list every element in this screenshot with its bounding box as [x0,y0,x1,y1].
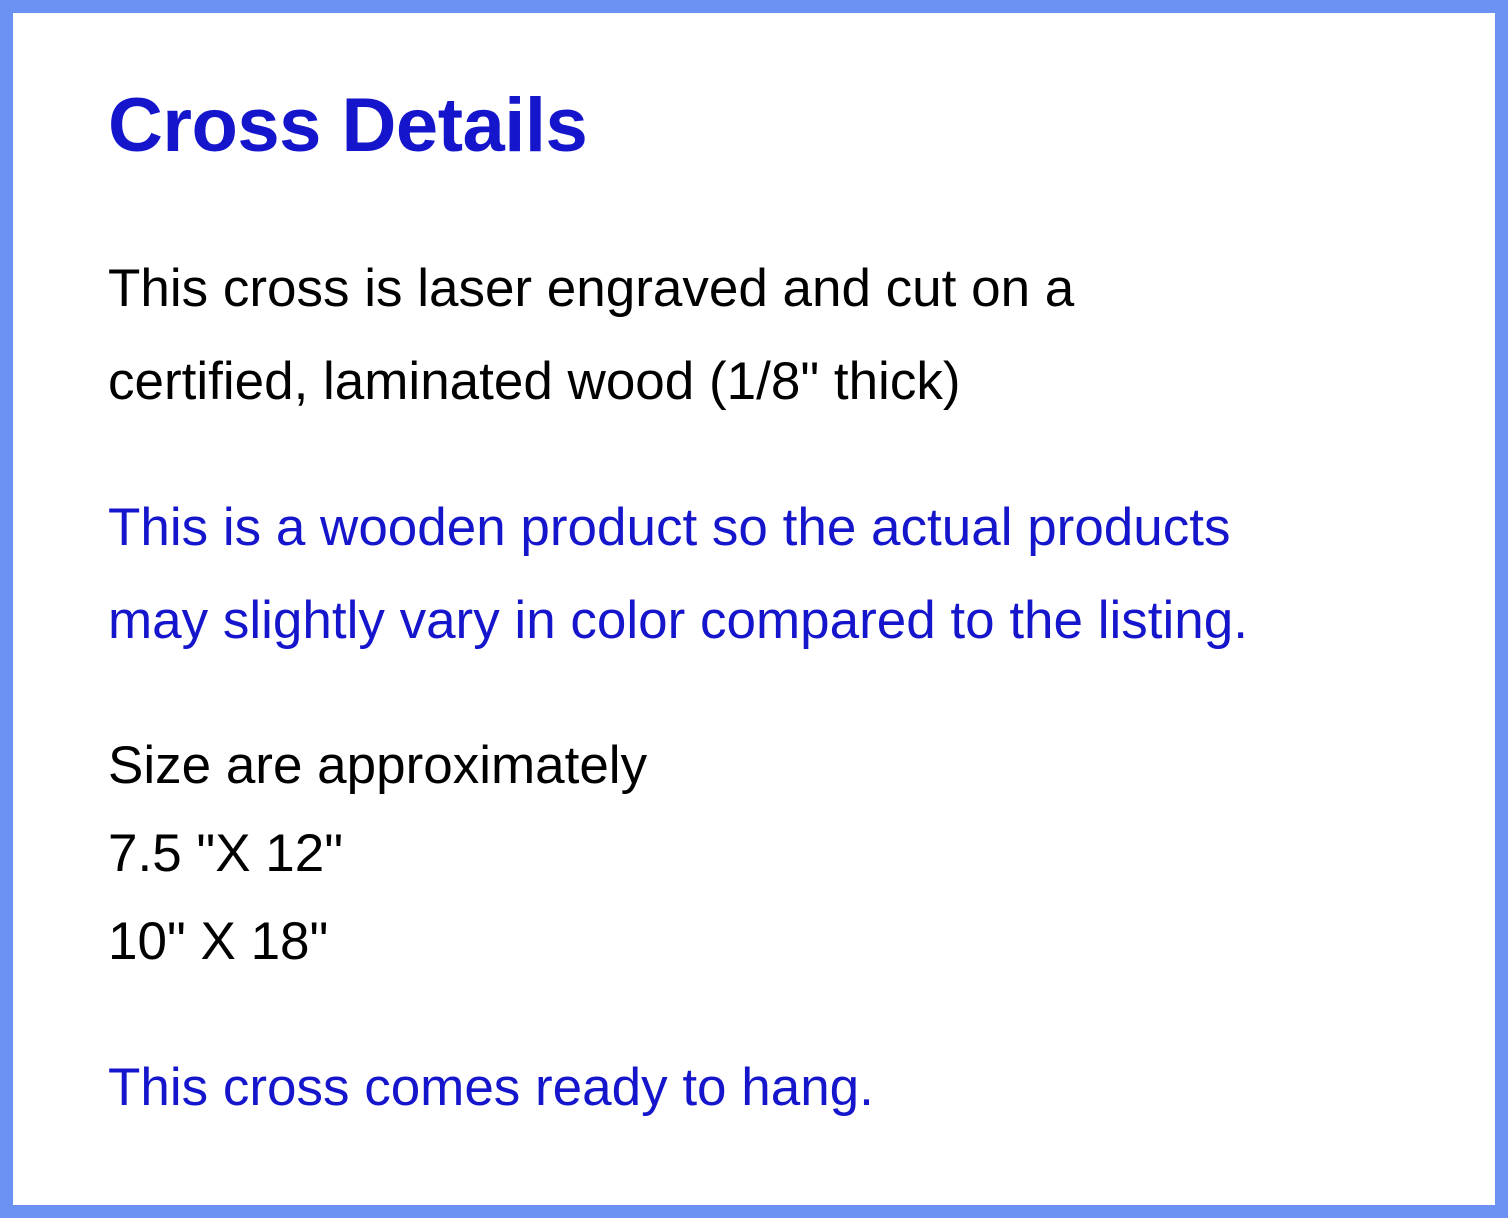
size-heading-line: Size are approximately [108,722,1478,810]
paragraph-color-variance-line-1: This is a wooden product so the actual p… [108,481,1478,574]
cross-details-card: Cross Details This cross is laser engrav… [0,0,1508,1218]
paragraph-color-variance-line-2: may slightly vary in color compared to t… [108,574,1478,667]
content-area: Cross Details This cross is laser engrav… [108,88,1478,1134]
page-title: Cross Details [108,88,1478,164]
paragraph-ready-to-hang: This cross comes ready to hang. [108,1041,1478,1134]
paragraph-laser-engraved-line-2: certified, laminated wood (1/8" thick) [108,335,1478,428]
size-option-small: 7.5 "X 12" [108,810,1478,898]
paragraph-size-details: Size are approximately 7.5 "X 12" 10" X … [108,722,1478,986]
paragraph-ready-to-hang-line-1: This cross comes ready to hang. [108,1041,1478,1134]
paragraph-color-variance: This is a wooden product so the actual p… [108,481,1478,667]
paragraph-laser-engraved: This cross is laser engraved and cut on … [108,242,1478,428]
size-option-large: 10" X 18" [108,898,1478,986]
paragraph-laser-engraved-line-1: This cross is laser engraved and cut on … [108,242,1478,335]
